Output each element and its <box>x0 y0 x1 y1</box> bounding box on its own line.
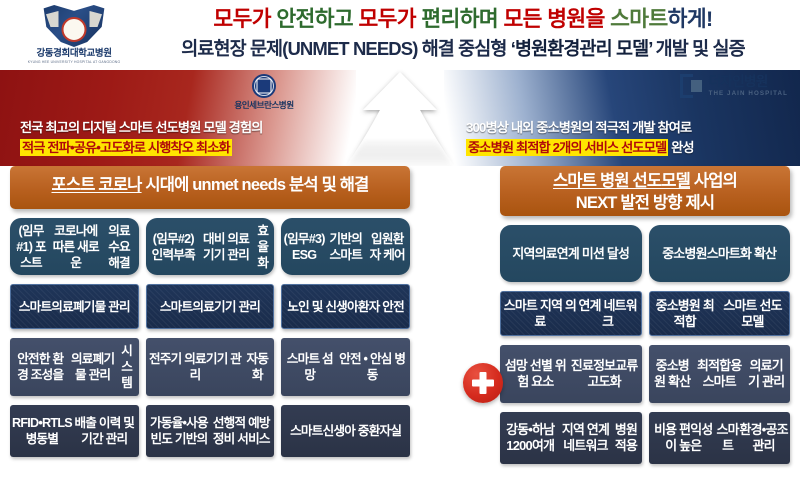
card-mission[interactable]: 중소병원스마트화 확산 <box>649 225 791 282</box>
right-row-themes: 스마트 지역 의료연계 네트워크 중소병원 최적합스마트 선도 모델 <box>500 291 790 336</box>
logo-gangdong-name-ko: 강동경희대학교병원 <box>22 48 126 59</box>
left-column: 포스트 코로나 시대에 unmet needs 분석 및 해결 (임무#1) 포… <box>10 166 410 457</box>
title-segment: 하게! <box>668 7 713 31</box>
card-theme[interactable]: 노인 및 신생아환자 안전 <box>281 284 410 329</box>
right-row-services: 섬망 선별 위험 요소진료정보교류 고도화 중소병원 확산최적합용 스마트의료기… <box>500 345 790 403</box>
banner-left-text: 전국 최고의 디지털 스마트 선도병원 모델 경험의 적극 전파•공유•고도화로… <box>20 118 263 157</box>
card-service[interactable]: 섬망 선별 위험 요소진료정보교류 고도화 <box>500 345 642 403</box>
card-service[interactable]: 전주기 의료기기 관리자동화 <box>146 338 275 396</box>
card-output[interactable]: RFID•RTLS 병동별배출 이력 및 기간 관리 <box>10 405 139 457</box>
left-row-outputs: RFID•RTLS 병동별배출 이력 및 기간 관리 가동율•사용빈도 기반의선… <box>10 405 410 457</box>
banner-left-line1: 전국 최고의 디지털 스마트 선도병원 모델 경험의 <box>20 118 263 137</box>
title-segment: 모두가 <box>358 7 421 31</box>
card-service[interactable]: 중소병원 확산최적합용 스마트의료기기 관리 <box>649 345 791 403</box>
banner-left-line2: 적극 전파•공유•고도화로 시행착오 최소화 <box>20 138 263 157</box>
page-subtitle: 의료현장 문제(UNMET NEEDS) 해결 중심형 ‘병원환경관리 모델’ … <box>132 36 794 62</box>
card-mission[interactable]: 지역의료연계 미션 달성 <box>500 225 642 282</box>
title-block: 모두가 안전하고 모두가 편리하며 모든 병원을 스마트하게! 의료현장 문제(… <box>132 6 794 62</box>
title-segment: 스마트 <box>610 7 668 31</box>
partner-banner-strip: 용인세브란스병원 전국 최고의 디지털 스마트 선도병원 모델 경험의 적극 전… <box>0 70 800 166</box>
card-service[interactable]: 안전한 환경 조성을의료폐기물 관리시스템 <box>10 338 139 396</box>
logo-the-jain-hospital: 더자인병원 THE JAIN HOSPITAL <box>618 74 788 98</box>
right-header-rest: 사업의 <box>690 172 737 190</box>
plus-badge-icon <box>463 363 503 403</box>
card-output[interactable]: 스마트신생아 중환자실 <box>281 405 410 457</box>
page-header: 강동경희대학교병원 KYUNG HEE UNIVERSITY HOSPITAL … <box>0 0 800 70</box>
logo-jain-name-ko: 더자인병원 <box>709 74 788 89</box>
banner-right-line1: 300병상 내외 중소병원의 적극적 개발 참여로 <box>466 118 694 137</box>
logo-gangdong-kyunghee: 강동경희대학교병원 KYUNG HEE UNIVERSITY HOSPITAL … <box>22 4 126 66</box>
banner-right-jain: 더자인병원 THE JAIN HOSPITAL 300병상 내외 중소병원의 적… <box>444 70 800 166</box>
subtitle-emphasis: ‘병원환경관리 모델’ <box>511 38 652 59</box>
title-segment: 편리하며 <box>421 7 503 31</box>
logo-slot-left: 용인세브란스병원 <box>198 74 330 118</box>
right-header-underlined: 스마트 병원 선도모델 <box>553 172 690 190</box>
left-column-header: 포스트 코로나 시대에 unmet needs 분석 및 해결 <box>10 166 410 209</box>
right-header-line2: NEXT 발전 방향 제시 <box>504 192 786 214</box>
left-row-services: 안전한 환경 조성을의료폐기물 관리시스템 전주기 의료기기 관리자동화 스마트… <box>10 338 410 396</box>
logo-jain-name-en: THE JAIN HOSPITAL <box>709 89 788 98</box>
subtitle-post: 개발 및 실증 <box>652 38 745 59</box>
card-task[interactable]: (임무#3) ESG기반의 스마트입원환자 케어 <box>281 218 410 275</box>
jain-bracket-icon <box>680 74 702 98</box>
card-task[interactable]: (임무#1) 포스트코로나에 따른 새로운의료 수요 해결 <box>10 218 139 275</box>
right-row-missions: 지역의료연계 미션 달성 중소병원스마트화 확산 <box>500 225 790 282</box>
logo-slot-right: 더자인병원 THE JAIN HOSPITAL <box>618 74 788 118</box>
main-content: 포스트 코로나 시대에 unmet needs 분석 및 해결 (임무#1) 포… <box>0 166 800 485</box>
left-row-tasks: (임무#1) 포스트코로나에 따른 새로운의료 수요 해결 (임무#2) 인력부… <box>10 218 410 275</box>
card-output[interactable]: 강동•하남 1200여개지역 연계 네트워크병원 적용 <box>500 412 642 464</box>
banner-left-yongin: 용인세브란스병원 전국 최고의 디지털 스마트 선도병원 모델 경험의 적극 전… <box>0 70 356 166</box>
right-column: 스마트 병원 선도모델 사업의 NEXT 발전 방향 제시 지역의료연계 미션 … <box>500 166 790 464</box>
logo-yongin-label: 용인세브란스병원 <box>198 99 330 111</box>
left-header-rest: 시대에 unmet needs 분석 및 해결 <box>142 176 369 194</box>
title-segment: 안전하고 <box>276 7 358 31</box>
card-theme[interactable]: 스마트의료폐기물 관리 <box>10 284 139 329</box>
title-segment: 모두가 <box>213 7 276 31</box>
subtitle-pre: 의료현장 문제(UNMET NEEDS) 해결 중심형 <box>181 38 511 59</box>
title-segment: 모든 병원을 <box>503 7 610 31</box>
left-header-underlined: 포스트 코로나 <box>51 176 141 194</box>
left-row-themes: 스마트의료폐기물 관리 스마트의료기기 관리 노인 및 신생아환자 안전 <box>10 284 410 329</box>
crest-icon <box>22 4 126 48</box>
banner-right-highlight: 중소병원 최적합 2개의 서비스 선도모델 <box>466 139 668 156</box>
banner-right-tail: 완성 <box>668 140 693 155</box>
card-output[interactable]: 비용 편익성이 높은스마트환경•공조관리 <box>649 412 791 464</box>
right-column-header: 스마트 병원 선도모델 사업의 NEXT 발전 방향 제시 <box>500 166 790 216</box>
banner-right-line2: 중소병원 최적합 2개의 서비스 선도모델 완성 <box>466 138 694 157</box>
banner-left-highlight: 적극 전파•공유•고도화로 시행착오 최소화 <box>20 139 232 156</box>
right-row-outputs: 강동•하남 1200여개지역 연계 네트워크병원 적용 비용 편익성이 높은스마… <box>500 412 790 464</box>
ring-icon <box>62 17 87 42</box>
card-task[interactable]: (임무#2) 인력부족대비 의료기기 관리효율화 <box>146 218 275 275</box>
card-theme[interactable]: 스마트의료기기 관리 <box>146 284 275 329</box>
logo-yongin-severance: 용인세브란스병원 <box>198 74 330 111</box>
card-output[interactable]: 가동율•사용빈도 기반의선행적 예방정비 서비스 <box>146 405 275 457</box>
page-title: 모두가 안전하고 모두가 편리하며 모든 병원을 스마트하게! <box>132 6 794 33</box>
card-service[interactable]: 스마트 섬망안전 • 안심 병동 <box>281 338 410 396</box>
logo-gangdong-name-en: KYUNG HEE UNIVERSITY HOSPITAL AT GANGDON… <box>22 59 126 65</box>
card-theme[interactable]: 중소병원 최적합스마트 선도 모델 <box>649 291 791 336</box>
banner-right-text: 300병상 내외 중소병원의 적극적 개발 참여로 중소병원 최적합 2개의 서… <box>466 118 694 157</box>
yonsei-emblem-icon <box>252 74 276 98</box>
card-theme[interactable]: 스마트 지역 의료연계 네트워크 <box>500 291 642 336</box>
